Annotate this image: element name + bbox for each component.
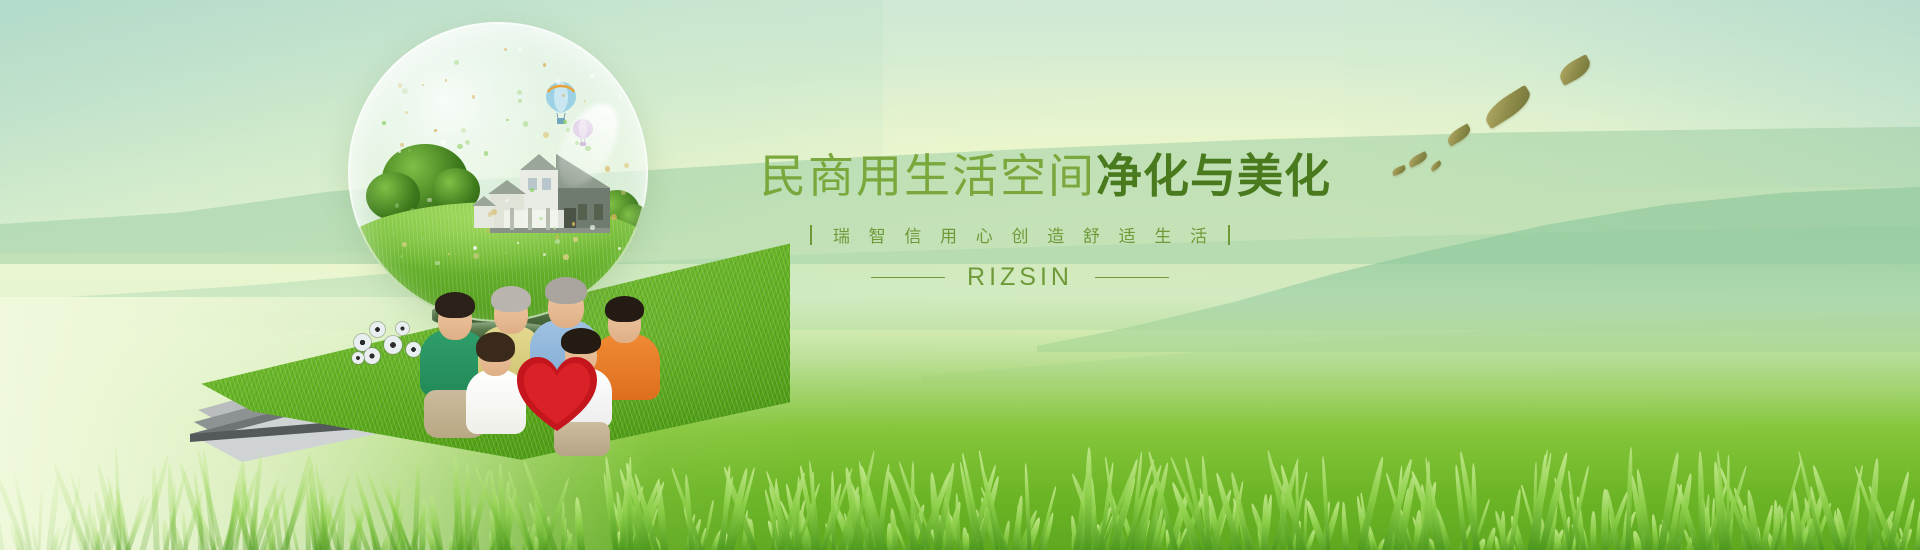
brand-rule-left (871, 277, 945, 278)
grass-blade (1590, 511, 1596, 550)
subtitle-right-bar (1228, 225, 1230, 245)
brand-rule-right (1095, 277, 1169, 278)
flying-leaves (1390, 55, 1630, 195)
brand-line: RIZSIN (760, 263, 1280, 292)
heart-cushion-icon (514, 354, 600, 434)
banner-text-block: 民商用生活空间净化与美化 瑞 智 信 用 心 创 造 舒 适 生 活 RIZSI… (760, 148, 1280, 292)
subtitle-left-bar (810, 225, 812, 245)
headline-light-text: 民商用生活空间 (760, 150, 1096, 202)
family-group (418, 258, 688, 458)
grass-blade (1697, 451, 1706, 550)
leaf-icon (1481, 85, 1536, 130)
banner-subtitle: 瑞 智 信 用 心 创 造 舒 适 生 活 (760, 222, 1280, 247)
leaf-icon (1429, 160, 1442, 172)
page-title: 民商用生活空间净化与美化 (760, 148, 1280, 204)
brand-name: RIZSIN (967, 263, 1073, 292)
headline-bold-text: 净化与美化 (1096, 150, 1331, 202)
grass-blade (1084, 447, 1093, 550)
leaf-icon (1407, 151, 1429, 168)
hero-banner: 民商用生活空间净化与美化 瑞 智 信 用 心 创 造 舒 适 生 活 RIZSI… (0, 0, 1920, 550)
grass-blade (628, 457, 632, 550)
daisy-flowers (350, 316, 428, 362)
leaf-icon (1445, 123, 1474, 146)
subtitle-text: 瑞 智 信 用 心 创 造 舒 适 生 活 (826, 222, 1214, 247)
leaf-icon (1391, 165, 1407, 176)
leaf-icon (1556, 54, 1594, 86)
